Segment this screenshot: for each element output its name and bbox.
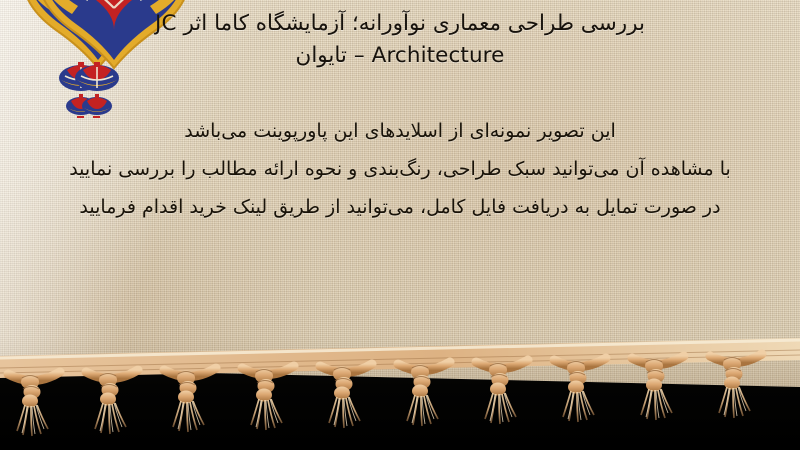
body-line-2: با مشاهده آن می‌توانید سبک طراحی، رنگ‌بن… xyxy=(30,150,770,188)
body-line-3: در صورت تمایل به دریافت فایل کامل، می‌تو… xyxy=(30,188,770,226)
body-line-1: این تصویر نمونه‌ای از اسلایدهای این پاور… xyxy=(30,112,770,150)
slide-body-text: این تصویر نمونه‌ای از اسلایدهای این پاور… xyxy=(0,112,800,226)
carpet-fringe xyxy=(0,330,800,450)
slide-title: بررسی طراحی معماری نوآورانه؛ آزمایشگاه ک… xyxy=(0,8,800,72)
slide-title-line-2: Architecture – تایوان xyxy=(18,40,782,72)
presentation-slide: بررسی طراحی معماری نوآورانه؛ آزمایشگاه ک… xyxy=(0,0,800,450)
slide-title-line-1: بررسی طراحی معماری نوآورانه؛ آزمایشگاه ک… xyxy=(18,8,782,40)
